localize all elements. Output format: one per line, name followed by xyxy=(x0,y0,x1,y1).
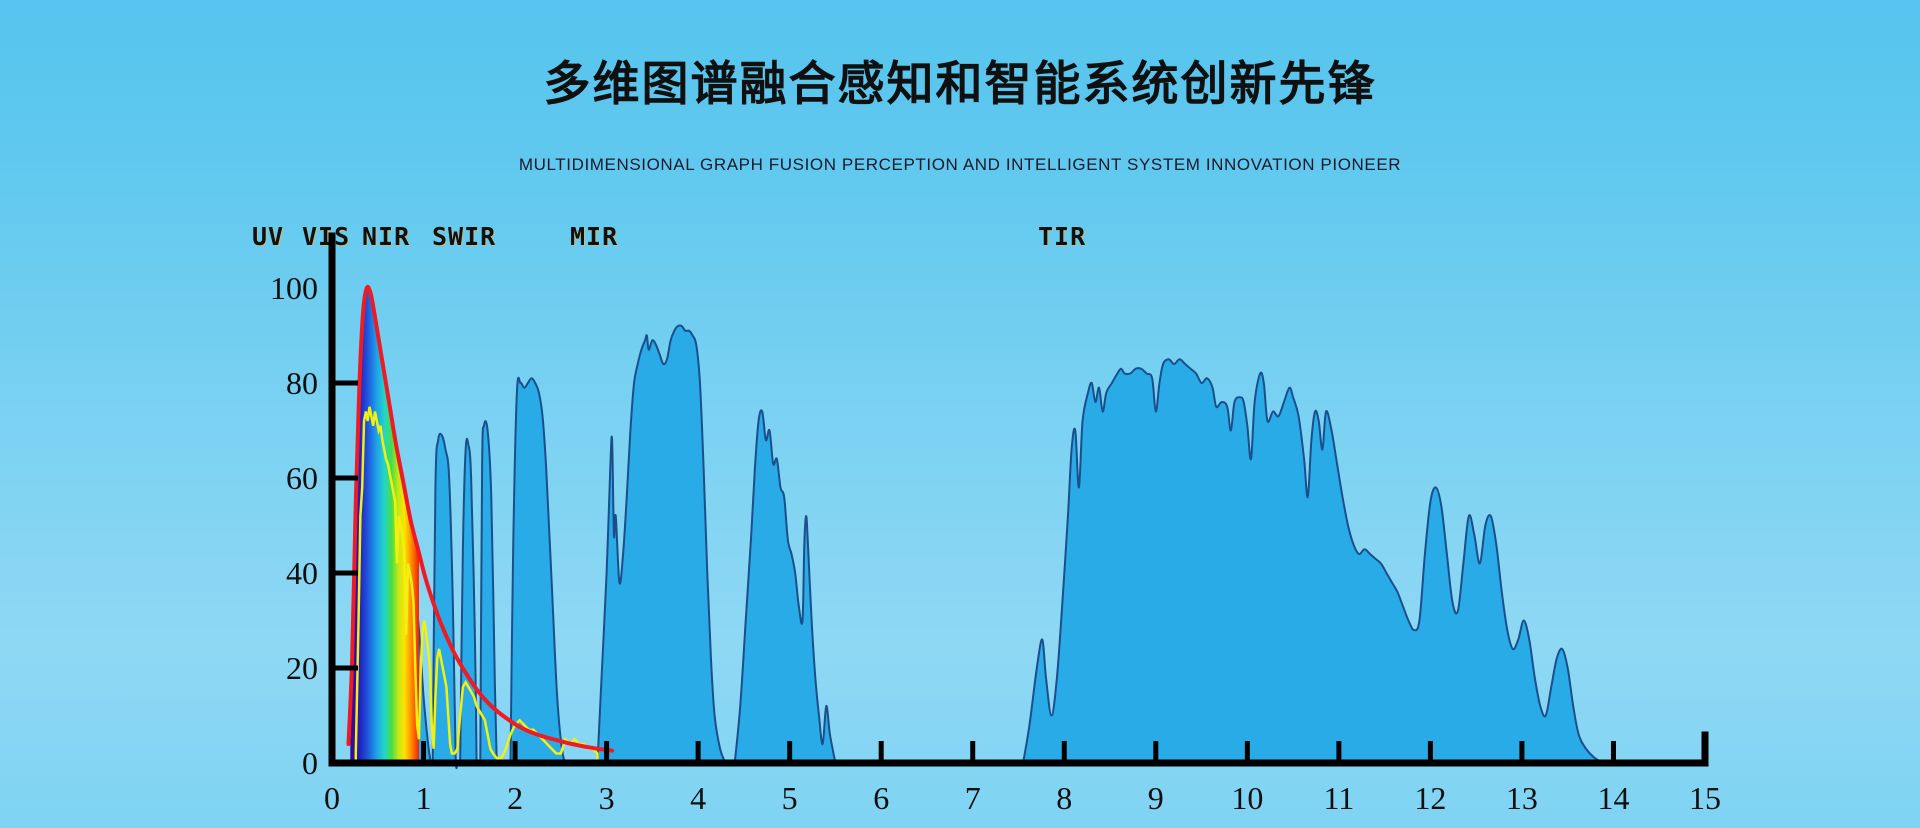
x-tick-label: 1 xyxy=(416,780,432,816)
x-tick-label: 7 xyxy=(965,780,981,816)
x-tick-label: 13 xyxy=(1506,780,1538,816)
x-tick-label: 5 xyxy=(782,780,798,816)
chart-series-layer xyxy=(348,268,1604,768)
x-tick-label: 12 xyxy=(1414,780,1446,816)
y-tick-label: 60 xyxy=(286,460,318,496)
x-tick-label: 8 xyxy=(1056,780,1072,816)
x-tick-label: 9 xyxy=(1148,780,1164,816)
transmission-band-area xyxy=(1023,359,1604,763)
x-tick-label: 11 xyxy=(1323,780,1354,816)
x-tick-label: 4 xyxy=(690,780,706,816)
transmission-band-area xyxy=(735,410,836,763)
y-tick-label: 20 xyxy=(286,650,318,686)
transmission-band-area xyxy=(597,325,725,763)
transmission-band-area xyxy=(510,378,568,763)
y-tick-label: 40 xyxy=(286,555,318,591)
x-tick-label: 15 xyxy=(1689,780,1721,816)
x-tick-label: 14 xyxy=(1597,780,1629,816)
x-tick-label: 10 xyxy=(1231,780,1263,816)
x-tick-label: 2 xyxy=(507,780,523,816)
x-tick-label: 3 xyxy=(599,780,615,816)
x-tick-label: 6 xyxy=(873,780,889,816)
poster-stage: 多维图谱融合感知和智能系统创新先锋 MULTIDIMENSIONAL GRAPH… xyxy=(0,0,1920,828)
transmission-band-area xyxy=(433,434,458,768)
y-tick-label: 100 xyxy=(270,270,318,306)
y-tick-label: 80 xyxy=(286,365,318,401)
transmission-band-area xyxy=(480,421,496,763)
y-tick-label: 0 xyxy=(302,745,318,781)
transmission-band-area xyxy=(460,439,476,763)
spectrum-chart: 0123456789101112131415020406080100 xyxy=(0,0,1920,828)
x-tick-label: 0 xyxy=(324,780,340,816)
